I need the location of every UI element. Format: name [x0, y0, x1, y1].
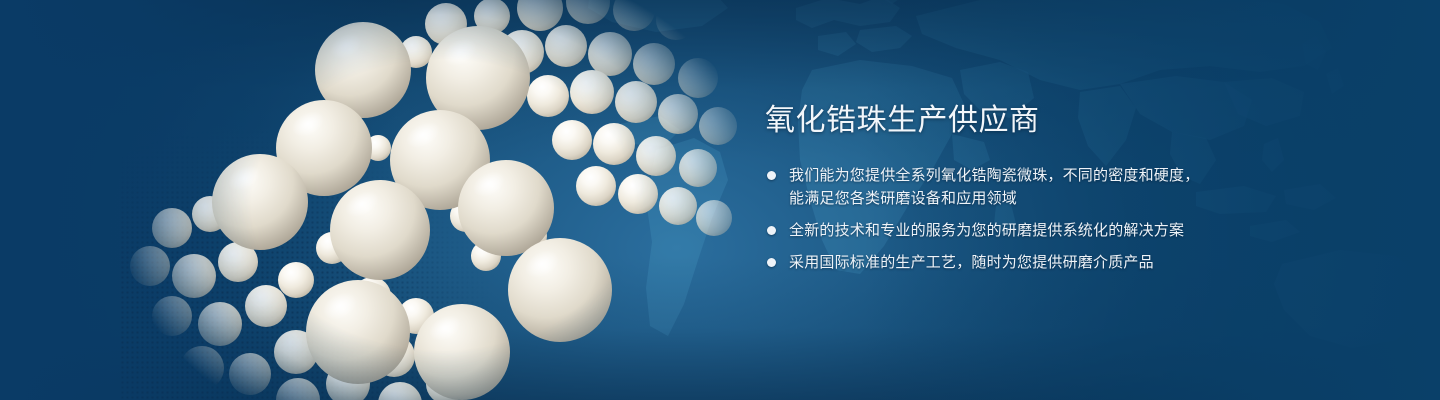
- page-title: 氧化锆珠生产供应商: [765, 104, 1325, 138]
- list-item-label: 我们能为您提供全系列氧化锆陶瓷微珠，不同的密度和硬度，: [789, 164, 1325, 187]
- list-item: 我们能为您提供全系列氧化锆陶瓷微珠，不同的密度和硬度， 能满足您各类研磨设备和应…: [765, 164, 1325, 210]
- feature-list: 我们能为您提供全系列氧化锆陶瓷微珠，不同的密度和硬度， 能满足您各类研磨设备和应…: [765, 164, 1325, 274]
- hero-banner: 氧化锆珠生产供应商 我们能为您提供全系列氧化锆陶瓷微珠，不同的密度和硬度， 能满…: [0, 0, 1440, 400]
- bullet-dot-icon: [767, 171, 776, 180]
- zirconia-beads-photo: [110, 0, 750, 400]
- bullet-dot-icon: [767, 226, 776, 235]
- banner-copy: 氧化锆珠生产供应商 我们能为您提供全系列氧化锆陶瓷微珠，不同的密度和硬度， 能满…: [765, 104, 1325, 274]
- list-item-label: 全新的技术和专业的服务为您的研磨提供系统化的解决方案: [789, 219, 1325, 242]
- list-item-label: 采用国际标准的生产工艺，随时为您提供研磨介质产品: [789, 251, 1325, 274]
- list-item: 采用国际标准的生产工艺，随时为您提供研磨介质产品: [765, 251, 1325, 274]
- bullet-dot-icon: [767, 258, 776, 267]
- list-item-label-cont: 能满足您各类研磨设备和应用领域: [789, 187, 1325, 210]
- list-item: 全新的技术和专业的服务为您的研磨提供系统化的解决方案: [765, 219, 1325, 242]
